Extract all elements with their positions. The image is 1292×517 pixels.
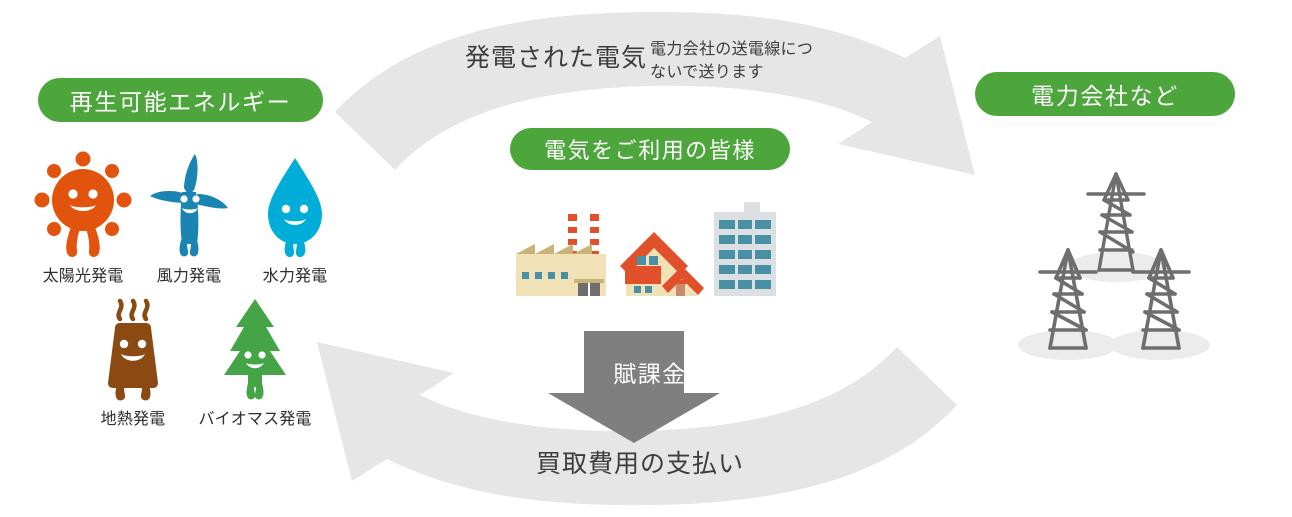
badge-renewable-energy[interactable]: 再生可能エネルギー — [38, 78, 323, 122]
factory-icon — [516, 214, 606, 296]
energy-source-label: 水力発電 — [240, 262, 350, 286]
wind-turbine-icon — [140, 152, 238, 260]
energy-source-label: 風力発電 — [134, 262, 244, 286]
water-drop-icon — [246, 152, 344, 260]
energy-source-biomass[interactable]: バイオマス発電 — [190, 295, 320, 429]
label-grid-note: 電力会社の送電線につないで送ります — [650, 38, 820, 84]
energy-source-label: バイオマス発電 — [190, 405, 320, 429]
energy-source-wind[interactable]: 風力発電 — [134, 152, 244, 286]
label-purchase-payment: 買取費用の支払い — [536, 444, 744, 480]
consumer-buildings — [508, 196, 792, 306]
transmission-towers — [1000, 160, 1250, 370]
sun-icon — [34, 152, 132, 260]
tower-shadow — [1018, 330, 1118, 360]
energy-source-geothermal[interactable]: 地熱発電 — [78, 295, 188, 429]
label-levy: 賦課金 — [595, 355, 705, 389]
geothermal-icon — [84, 295, 182, 403]
diagram-canvas: 再生可能エネルギー 太陽光発電 — [0, 0, 1292, 517]
badge-power-utility[interactable]: 電力会社など — [975, 72, 1235, 116]
label-generated-electricity: 発電された電気 — [465, 38, 647, 74]
energy-source-hydro[interactable]: 水力発電 — [240, 152, 350, 286]
office-building-icon — [714, 202, 776, 296]
energy-source-solar[interactable]: 太陽光発電 — [28, 152, 138, 286]
house-icon — [620, 232, 704, 296]
energy-source-label: 地熱発電 — [78, 405, 188, 429]
badge-consumers[interactable]: 電気をご利用の皆様 — [510, 128, 790, 170]
tree-icon — [206, 295, 304, 403]
energy-source-label: 太陽光発電 — [28, 262, 138, 286]
tower-shadow — [1110, 330, 1210, 360]
